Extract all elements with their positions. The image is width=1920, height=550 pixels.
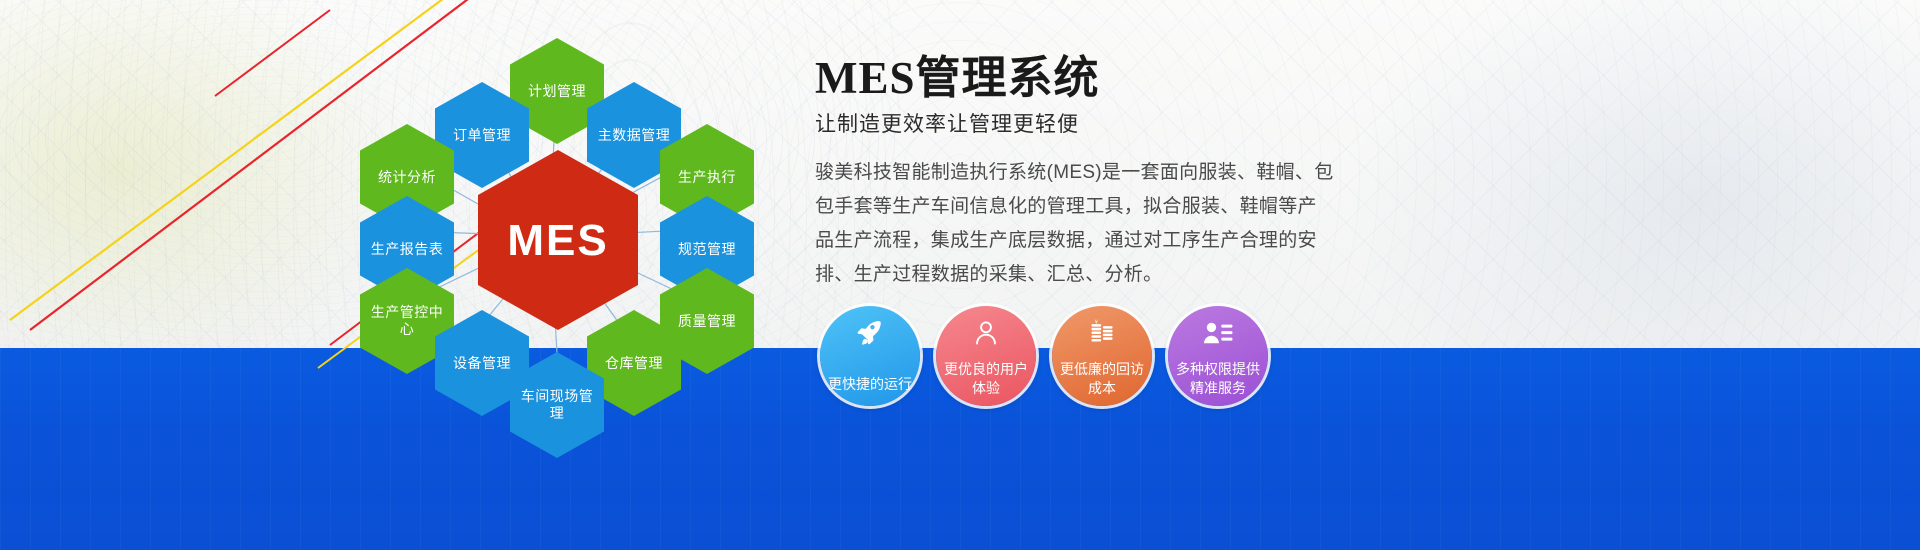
hexagon-center-mes[interactable]: MES <box>478 150 638 330</box>
user-list-icon <box>1201 318 1235 348</box>
hexagon-label: 订单管理 <box>449 127 515 144</box>
hexagon-label: 车间现场管理 <box>510 388 604 422</box>
page-title: MES管理系统 <box>815 52 1335 104</box>
feature-badge-faster-operation[interactable]: 更快捷的运行 <box>820 306 920 406</box>
badge-label: 更优良的用户体验 <box>940 360 1032 398</box>
hexagon-label: 生产执行 <box>674 169 740 186</box>
hexagon-label: 生产管控中心 <box>360 304 454 338</box>
hexagon-label: 主数据管理 <box>594 127 675 144</box>
spacer <box>815 138 1335 156</box>
banner-stage: MES 计划管理 订单管理 主数据管理 统计分析 生产执行 生产报告表 规范管理… <box>0 0 1920 550</box>
banner-text-block: MES管理系统 让制造更效率让管理更轻便 骏美科技智能制造执行系统(MES)是一… <box>815 52 1335 292</box>
svg-text:￥: ￥ <box>1094 320 1099 326</box>
badge-label: 多种权限提供精准服务 <box>1172 360 1264 398</box>
feature-badge-list: 更快捷的运行 更优良的用户体验 <box>820 306 1268 406</box>
badge-label: 更低廉的回访成本 <box>1056 360 1148 398</box>
badge-label: 更快捷的运行 <box>824 375 916 394</box>
page-subtitle: 让制造更效率让管理更轻便 <box>815 108 1335 138</box>
user-icon <box>969 318 1003 348</box>
hexagon-label: 规范管理 <box>674 241 740 258</box>
hexagon-label: 仓库管理 <box>601 355 667 372</box>
feature-badge-better-experience[interactable]: 更优良的用户体验 <box>936 306 1036 406</box>
rocket-icon <box>853 318 887 348</box>
feature-badge-lower-visit-cost[interactable]: ￥ 更低廉的回访成本 <box>1052 306 1152 406</box>
hexagon-label: 设备管理 <box>449 355 515 372</box>
description-paragraph: 骏美科技智能制造执行系统(MES)是一套面向服装、鞋帽、包包手套等生产车间信息化… <box>815 156 1335 292</box>
hexagon-label: 计划管理 <box>524 83 590 100</box>
mes-hexagon-diagram: MES 计划管理 订单管理 主数据管理 统计分析 生产执行 生产报告表 规范管理… <box>330 20 770 440</box>
hexagon-label: 生产报告表 <box>367 241 448 258</box>
feature-badge-multi-permission[interactable]: 多种权限提供精准服务 <box>1168 306 1268 406</box>
coins-icon: ￥ <box>1085 318 1119 348</box>
hexagon-label: 质量管理 <box>674 313 740 330</box>
hexagon-center-label: MES <box>503 232 612 249</box>
hexagon-label: 统计分析 <box>374 169 440 186</box>
